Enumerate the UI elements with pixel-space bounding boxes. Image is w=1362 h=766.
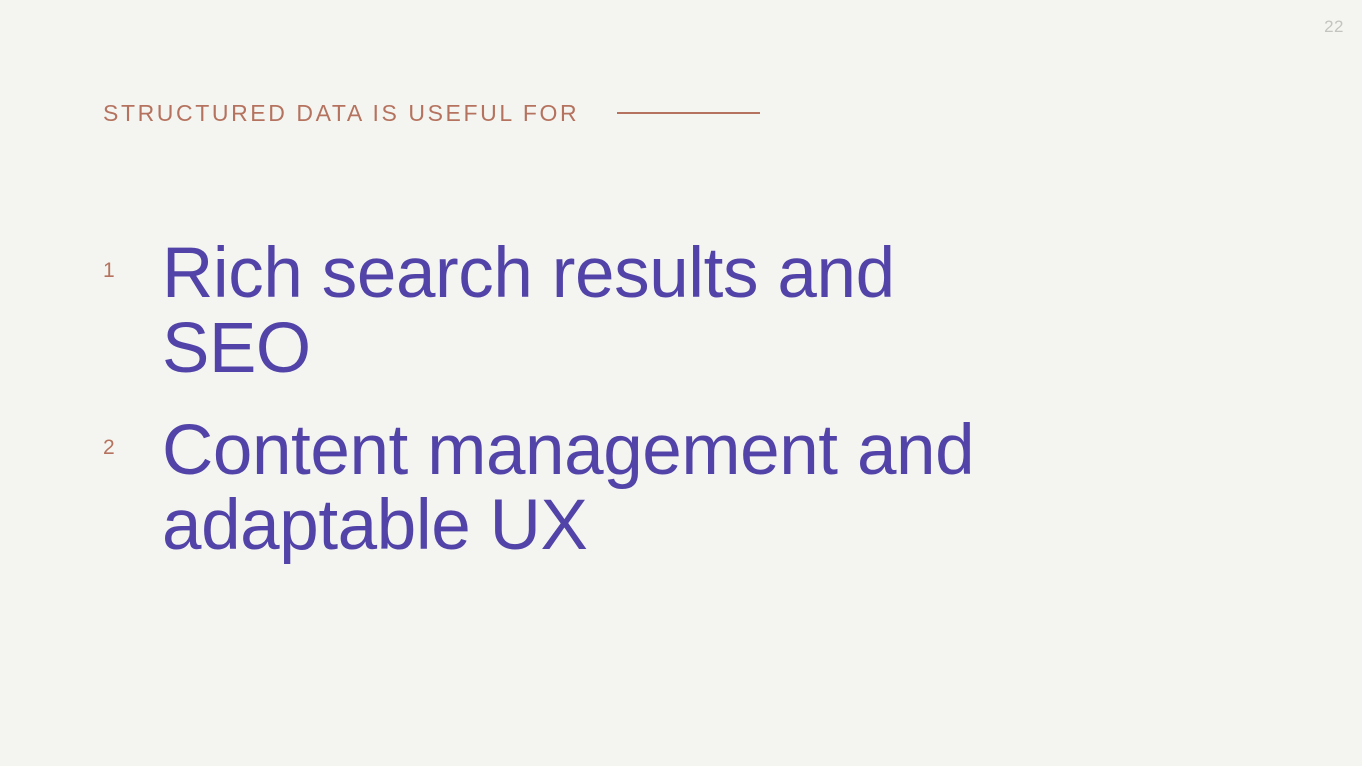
numbered-list: 1 Rich search results and SEO 2 Content … (103, 236, 1203, 563)
slide: 22 Structured data is useful for 1 Rich … (0, 0, 1362, 766)
list-item: 1 Rich search results and SEO (103, 236, 1203, 387)
horizontal-rule-icon (617, 112, 760, 114)
list-item: 2 Content management and adaptable UX (103, 413, 1203, 564)
section-heading-label: Structured data is useful for (103, 102, 579, 125)
list-item-label: Content management and adaptable UX (162, 413, 1042, 564)
list-item-label: Rich search results and SEO (162, 236, 1042, 387)
section-heading: Structured data is useful for (103, 98, 760, 128)
list-item-number: 2 (103, 413, 162, 458)
list-item-number: 1 (103, 236, 162, 281)
page-number: 22 (1324, 18, 1344, 35)
